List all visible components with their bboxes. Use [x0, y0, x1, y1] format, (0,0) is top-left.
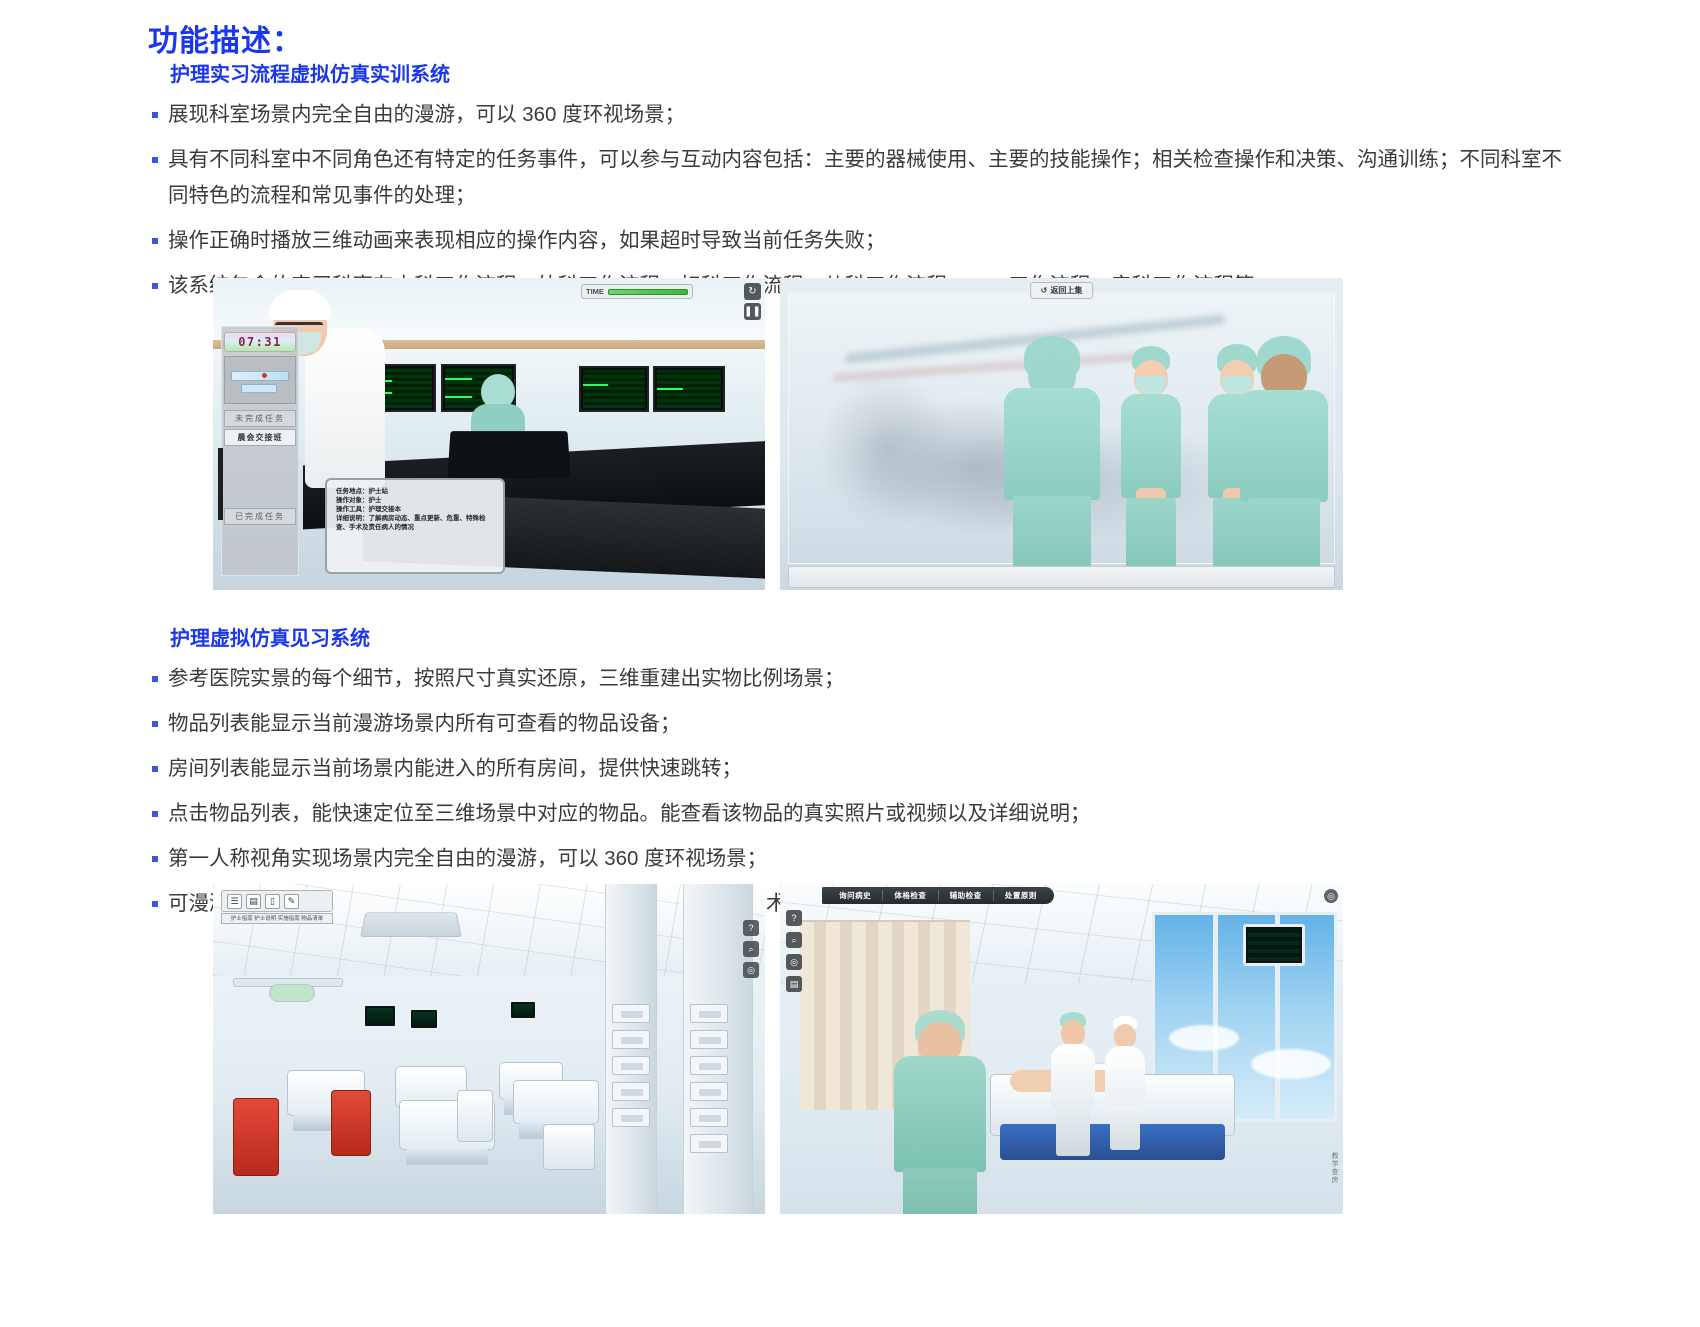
list-item-text: 物品列表能显示当前漫游场景内所有可查看的物品设备；: [168, 712, 681, 735]
screenshot-ward-teaching: 询问病史 体格检查 辅助检查 处置原则 ? ⌕ ◎ ▤ ◎ 教学查房: [780, 884, 1343, 1214]
door-icon[interactable]: ▯: [265, 894, 280, 909]
minimap-player-marker-icon: [262, 373, 267, 378]
screenshot-nicu-room: ☰ ▤ ▯ ✎ 护士指南 护士说明 实施指南 物品清单 ? ⌕ ◎: [213, 884, 765, 1214]
supply-cart: [457, 1090, 493, 1142]
bullet-marker-icon: [152, 676, 158, 682]
time-label: TIME: [586, 287, 604, 296]
time-progress-badge: TIME: [581, 284, 693, 299]
surgical-mask: [1136, 376, 1166, 394]
power-outlet: [690, 1030, 728, 1049]
list-item-text: 展现科室场景内完全自由的漫游，可以 360 度环视场景；: [168, 103, 685, 126]
legs: [903, 1168, 977, 1214]
list-item-text: 点击物品列表，能快速定位至三维场景中对应的物品。能查看该物品的真实照片或视频以及…: [168, 802, 1091, 825]
list-item-text: 操作正确时播放三维动画来表现相应的操作内容，如果超时导致当前任务失败；: [168, 229, 886, 252]
head: [1061, 1020, 1085, 1046]
search-icon[interactable]: ⌕: [786, 932, 802, 948]
completed-tasks-button[interactable]: 已完成任务: [224, 508, 296, 525]
doctor-cap: [269, 290, 331, 320]
list-item: 操作正确时播放三维动画来表现相应的操作内容，如果超时导致当前任务失败；: [148, 223, 1568, 259]
bullet-marker-icon: [152, 112, 158, 118]
view-icon[interactable]: ◎: [786, 954, 802, 970]
legs: [1013, 496, 1091, 574]
power-outlet: [612, 1030, 650, 1049]
mission-timer: 07:31: [224, 332, 296, 352]
tab-treatment-principles[interactable]: 处置原则: [993, 890, 1048, 901]
book-icon[interactable]: ▤: [246, 894, 261, 909]
bullet-marker-icon: [152, 811, 158, 817]
exam-light-head: [269, 984, 315, 1002]
bullet-marker-icon: [152, 856, 158, 862]
emergency-cart: [233, 1098, 279, 1176]
legs: [1056, 1108, 1090, 1156]
task-role: 操作对象：护士: [336, 496, 494, 505]
power-outlet: [690, 1004, 728, 1023]
scene-side-buttons: ? ⌕ ◎: [743, 920, 759, 983]
list-item: 参考医院实景的每个细节，按照尺寸真实还原，三维重建出实物比例场景；: [148, 661, 1568, 697]
bullet-marker-icon: [152, 283, 158, 289]
bullet-marker-icon: [152, 157, 158, 163]
bottom-bar: [788, 566, 1335, 588]
doctor-body: [305, 328, 385, 488]
power-outlet: [690, 1056, 728, 1075]
torso: [1121, 394, 1181, 498]
minimap-room: [241, 384, 277, 393]
task-tool: 操作工具：护理交接本: [336, 505, 494, 514]
list-item-text: 第一人称视角实现场景内完全自由的漫游，可以 360 度环视场景；: [168, 847, 767, 870]
vitals-monitor: [1243, 924, 1305, 966]
list-item: 展现科室场景内完全自由的漫游，可以 360 度环视场景；: [148, 97, 1568, 133]
task-list-scrollbar[interactable]: [218, 448, 223, 520]
uniform: [1105, 1046, 1145, 1106]
current-task-button[interactable]: 晨会交接班: [224, 429, 296, 446]
bullet-marker-icon: [152, 721, 158, 727]
emergency-cart: [331, 1090, 371, 1156]
pen-icon[interactable]: ✎: [284, 894, 299, 909]
minimap-corridor: [231, 371, 289, 381]
bullet-marker-icon: [152, 238, 158, 244]
power-outlet: [690, 1134, 728, 1153]
power-outlet: [690, 1082, 728, 1101]
screenshot-row-1: 07:31 未完成任务 晨会交接班 已完成任务 任务地点：护士站 操作对象：护士…: [213, 278, 1343, 590]
back-icon: ↺: [1041, 286, 1048, 295]
head: [1114, 1024, 1136, 1048]
list-item: 点击物品列表，能快速定位至三维场景中对应的物品。能查看该物品的真实照片或视频以及…: [148, 796, 1568, 832]
scene-side-buttons: ? ⌕ ◎ ▤: [786, 910, 802, 998]
search-icon[interactable]: ⌕: [743, 941, 759, 957]
power-outlet: [612, 1082, 650, 1101]
laptop: [447, 431, 570, 478]
list-item-text: 参考医院实景的每个细节，按照尺寸真实还原，三维重建出实物比例场景；: [168, 667, 845, 690]
tab-history[interactable]: 询问病史: [828, 890, 882, 901]
tab-physical-exam[interactable]: 体格检查: [882, 890, 937, 901]
watermark-label: 教学查房: [1329, 1152, 1339, 1184]
list-item: 第一人称视角实现场景内完全自由的漫游，可以 360 度环视场景；: [148, 841, 1568, 877]
outlet-group: [690, 1004, 730, 1160]
supply-cart: [543, 1124, 595, 1170]
task-location: 任务地点：护士站: [336, 487, 494, 496]
examination-tabbar[interactable]: 询问病史 体格检查 辅助检查 处置原则: [822, 887, 1054, 904]
legs: [1110, 1106, 1140, 1150]
list-item: 物品列表能显示当前漫游场景内所有可查看的物品设备；: [148, 706, 1568, 742]
staff-nurse: [1102, 1016, 1148, 1148]
ceiling-vent: [360, 912, 462, 937]
legs: [1248, 498, 1320, 574]
doctor-right-2: [1238, 336, 1330, 574]
settings-icon[interactable]: ◎: [1324, 889, 1338, 903]
outlet-group: [612, 1004, 652, 1134]
cloud: [1169, 1025, 1239, 1051]
bullet-marker-icon: [152, 766, 158, 772]
screenshot-surgeons-hallway: ↺ 返回上集: [780, 278, 1343, 590]
section-2-bullet-list: 参考医院实景的每个细节，按照尺寸真实还原，三维重建出实物比例场景； 物品列表能显…: [148, 661, 1568, 922]
student-nurse-back-view: [892, 1010, 988, 1214]
pause-icon[interactable]: ❚❚: [744, 303, 761, 320]
white-coat: [1051, 1044, 1095, 1108]
view-icon[interactable]: ◎: [743, 962, 759, 978]
back-to-previous-button[interactable]: ↺ 返回上集: [1030, 282, 1094, 299]
help-icon[interactable]: ?: [743, 920, 759, 936]
infant-incubator: [513, 1080, 599, 1124]
page-root: 功能描述： 护理实习流程虚拟仿真实训系统 展现科室场景内完全自由的漫游，可以 3…: [0, 0, 1700, 1327]
list-item-text: 具有不同科室中不同角色还有特定的任务事件，可以参与互动内容包括：主要的器械使用、…: [168, 148, 1562, 207]
section-1-bullet-list: 展现科室场景内完全自由的漫游，可以 360 度环视场景； 具有不同科室中不同角色…: [148, 97, 1568, 304]
section-2-heading: 护理虚拟仿真见习系统: [170, 622, 1568, 651]
service-column: [605, 884, 657, 1214]
nurse-front-view: [1118, 346, 1184, 572]
task-detail-card: 任务地点：护士站 操作对象：护士 操作工具：护理交接本 详细说明：了解病房动态、…: [325, 478, 505, 574]
patient-monitor: [653, 366, 725, 412]
list-icon[interactable]: ☰: [227, 894, 242, 909]
torso: [1240, 390, 1328, 502]
scene-toolbar[interactable]: ☰ ▤ ▯ ✎: [221, 890, 333, 912]
bedside-monitor: [363, 1004, 397, 1028]
bedside-monitor: [509, 1000, 537, 1020]
power-outlet: [612, 1004, 650, 1023]
task-description: 详细说明：了解病房动态、重点更新、危重、特殊检查、手术及责任病人的情况: [336, 514, 494, 532]
legs: [1126, 498, 1176, 572]
cloud: [1251, 1049, 1331, 1079]
power-outlet: [612, 1056, 650, 1075]
list-item: 房间列表能显示当前场景内能进入的所有房间，提供快速跳转；: [148, 751, 1568, 787]
restart-icon[interactable]: ↻: [744, 283, 761, 300]
torso: [1004, 388, 1100, 500]
back-button-label: 返回上集: [1050, 285, 1082, 296]
patient-monitor: [579, 366, 649, 412]
time-progress-bar: [608, 289, 688, 295]
surgeon-back-view: [1002, 336, 1102, 574]
power-outlet: [690, 1108, 728, 1127]
toolbar-caption: 护士指南 护士说明 实施指南 物品清单: [221, 913, 333, 924]
list-item-text: 房间列表能显示当前场景内能进入的所有房间，提供快速跳转；: [168, 757, 742, 780]
page-title: 功能描述：: [148, 16, 303, 60]
bullet-marker-icon: [152, 901, 158, 907]
section-1-heading: 护理实习流程虚拟仿真实训系统: [170, 58, 1568, 87]
tab-auxiliary-exam[interactable]: 辅助检查: [938, 890, 993, 901]
power-outlet: [612, 1108, 650, 1127]
list-item: 具有不同科室中不同角色还有特定的任务事件，可以参与互动内容包括：主要的器械使用、…: [148, 142, 1568, 214]
screenshot-icu-station: 07:31 未完成任务 晨会交接班 已完成任务 任务地点：护士站 操作对象：护士…: [213, 278, 765, 590]
attending-doctor: [1048, 1012, 1098, 1152]
help-icon[interactable]: ?: [786, 910, 802, 926]
section-nursing-training: 护理实习流程虚拟仿真实训系统 展现科室场景内完全自由的漫游，可以 360 度环视…: [148, 58, 1568, 313]
torso: [894, 1056, 986, 1172]
list-icon[interactable]: ▤: [786, 976, 802, 992]
incomplete-tasks-button[interactable]: 未完成任务: [224, 410, 296, 427]
minimap[interactable]: [224, 356, 296, 404]
screenshot-row-2: ☰ ▤ ▯ ✎ 护士指南 护士说明 实施指南 物品清单 ? ⌕ ◎: [213, 884, 1343, 1214]
bedside-monitor: [409, 1008, 439, 1030]
